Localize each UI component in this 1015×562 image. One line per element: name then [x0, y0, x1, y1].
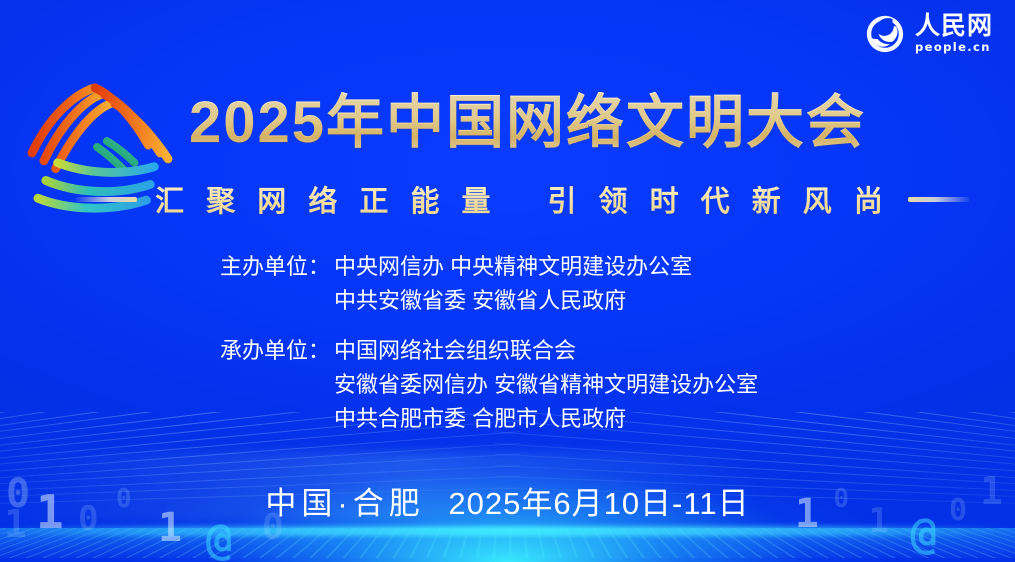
- organizers-block: 主办单位： 中央网信办 中央精神文明建设办公室 中共安徽省委 安徽省人民政府 承…: [0, 250, 1015, 436]
- people-cn-wordmark: 人民网 people.cn: [915, 14, 993, 54]
- people-cn-domain: people.cn: [915, 42, 991, 54]
- organizer-lines: 中央网信办 中央精神文明建设办公室 中共安徽省委 安徽省人民政府: [330, 250, 815, 318]
- event-place-date: 中国·合肥 2025年6月10日-11日: [0, 478, 1015, 523]
- slogan-left: 汇 聚 网 络 正 能 量: [155, 178, 497, 220]
- title-block: 2025年中国网络文明大会: [0, 92, 1015, 155]
- horizon-glow: [0, 526, 1015, 536]
- organizer-line: 中央网信办 中央精神文明建设办公室: [334, 250, 815, 284]
- people-globe-icon: [865, 14, 905, 54]
- organizer-line: 中共合肥市委 合肥市人民政府: [334, 402, 815, 436]
- conference-poster: 0 1 0 1 0 1 @ 0 1 0 @ 1 0 1 人民网 people.c…: [0, 0, 1015, 562]
- organizer-label: 主办单位：: [200, 250, 330, 284]
- slogan-row: 汇 聚 网 络 正 能 量 引 领 时 代 新 风 尚: [0, 178, 1015, 220]
- slogan-rule-left: [75, 197, 137, 202]
- event-date: 2025年6月10日-11日: [448, 486, 749, 521]
- perspective-floor: [0, 528, 1015, 558]
- slogan-right: 引 领 时 代 新 风 尚: [548, 178, 890, 220]
- organizer-line: 中共安徽省委 安徽省人民政府: [334, 284, 815, 318]
- organizer-line: 安徽省委网信办 安徽省精神文明建设办公室: [334, 368, 815, 402]
- organizer-lines: 中国网络社会组织联合会 安徽省委网信办 安徽省精神文明建设办公室 中共合肥市委 …: [330, 334, 815, 436]
- organizer-line: 中国网络社会组织联合会: [334, 334, 815, 368]
- slogan-rule-right: [908, 197, 970, 202]
- organizer-group-coorganizer: 承办单位： 中国网络社会组织联合会 安徽省委网信办 安徽省精神文明建设办公室 中…: [200, 334, 815, 436]
- organizer-group-host: 主办单位： 中央网信办 中央精神文明建设办公室 中共安徽省委 安徽省人民政府: [200, 250, 815, 318]
- decor-glyph: @: [206, 518, 233, 562]
- people-cn-name: 人民网: [915, 14, 993, 39]
- page-title: 2025年中国网络文明大会: [149, 92, 866, 155]
- people-cn-logo[interactable]: 人民网 people.cn: [865, 14, 993, 54]
- organizer-label: 承办单位：: [200, 334, 330, 368]
- event-place: 中国·合肥: [265, 486, 424, 521]
